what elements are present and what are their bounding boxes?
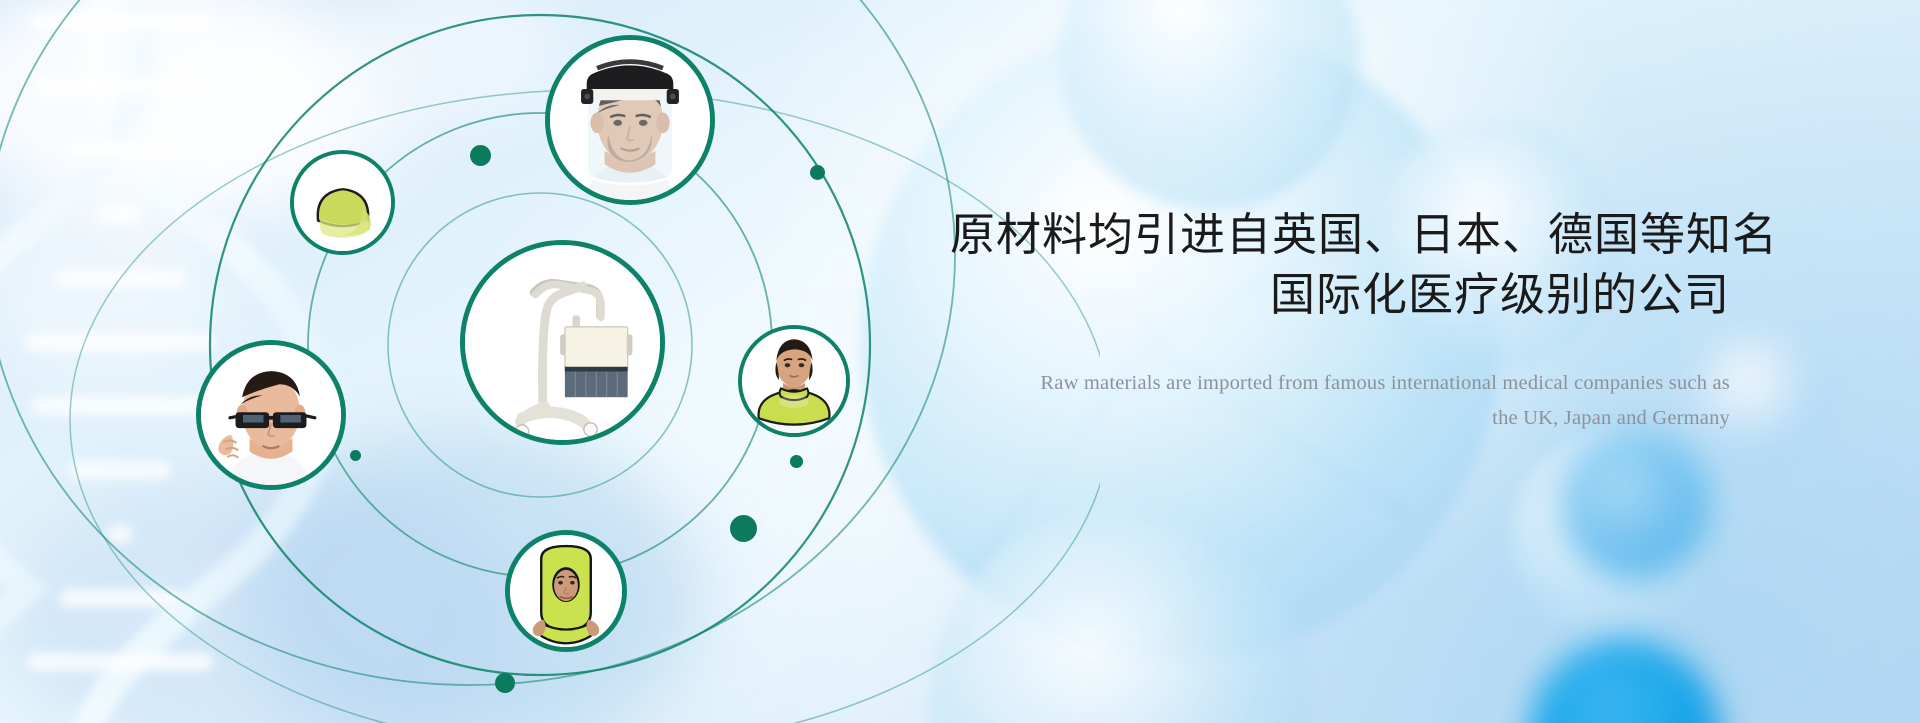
mobile-radiation-protection-screen-photo — [465, 245, 660, 440]
subtitle-line-2: the UK, Japan and Germany — [950, 401, 1730, 437]
bubble-mobile-barrier[interactable] — [460, 240, 665, 445]
hero-banner: 原材料均引进自英国、日本、德国等知名 国际化医疗级别的公司 Raw materi… — [0, 0, 1920, 723]
orbit-dot-large — [730, 515, 757, 542]
orbit-dot-left — [350, 450, 361, 461]
headline-line-2: 国际化医疗级别的公司 — [950, 265, 1730, 325]
cloud-blob — [0, 180, 230, 380]
cloud-blob — [330, 0, 570, 120]
bubble-face-shield[interactable] — [545, 35, 715, 205]
orbit-dot-top — [470, 145, 491, 166]
bubble-lead-hood[interactable] — [505, 530, 627, 652]
man-wearing-lead-face-shield-photo — [550, 40, 710, 200]
headline: 原材料均引进自英国、日本、德国等知名 国际化医疗级别的公司 — [950, 205, 1730, 326]
cloud-blob — [0, 470, 520, 723]
banner-copy: 原材料均引进自英国、日本、德国等知名 国际化医疗级别的公司 Raw materi… — [950, 205, 1730, 437]
molecule-sphere — [930, 510, 1310, 723]
blue-sphere — [1560, 430, 1710, 580]
man-wearing-lead-glasses-photo — [201, 345, 341, 485]
subtitle: Raw materials are imported from famous i… — [950, 366, 1730, 438]
bubble-lead-cap[interactable] — [290, 150, 395, 255]
bubble-lead-glasses[interactable] — [196, 340, 346, 490]
blue-sphere — [1530, 640, 1720, 723]
orbit-dot-upper-right — [810, 165, 825, 180]
woman-thyroid-shield-collar-photo — [742, 329, 846, 433]
headline-line-1: 原材料均引进自英国、日本、德国等知名 — [950, 208, 1778, 261]
woman-lead-protective-hood-photo — [510, 535, 622, 647]
bubble-thyroid-collar[interactable] — [738, 325, 850, 437]
orbit-dot-mid-right — [790, 455, 803, 468]
lead-protective-cap-photo — [294, 154, 391, 251]
molecule-sphere — [1060, 0, 1360, 210]
orbit-dot-bottom — [495, 673, 515, 693]
subtitle-line-1: Raw materials are imported from famous i… — [1040, 372, 1730, 394]
